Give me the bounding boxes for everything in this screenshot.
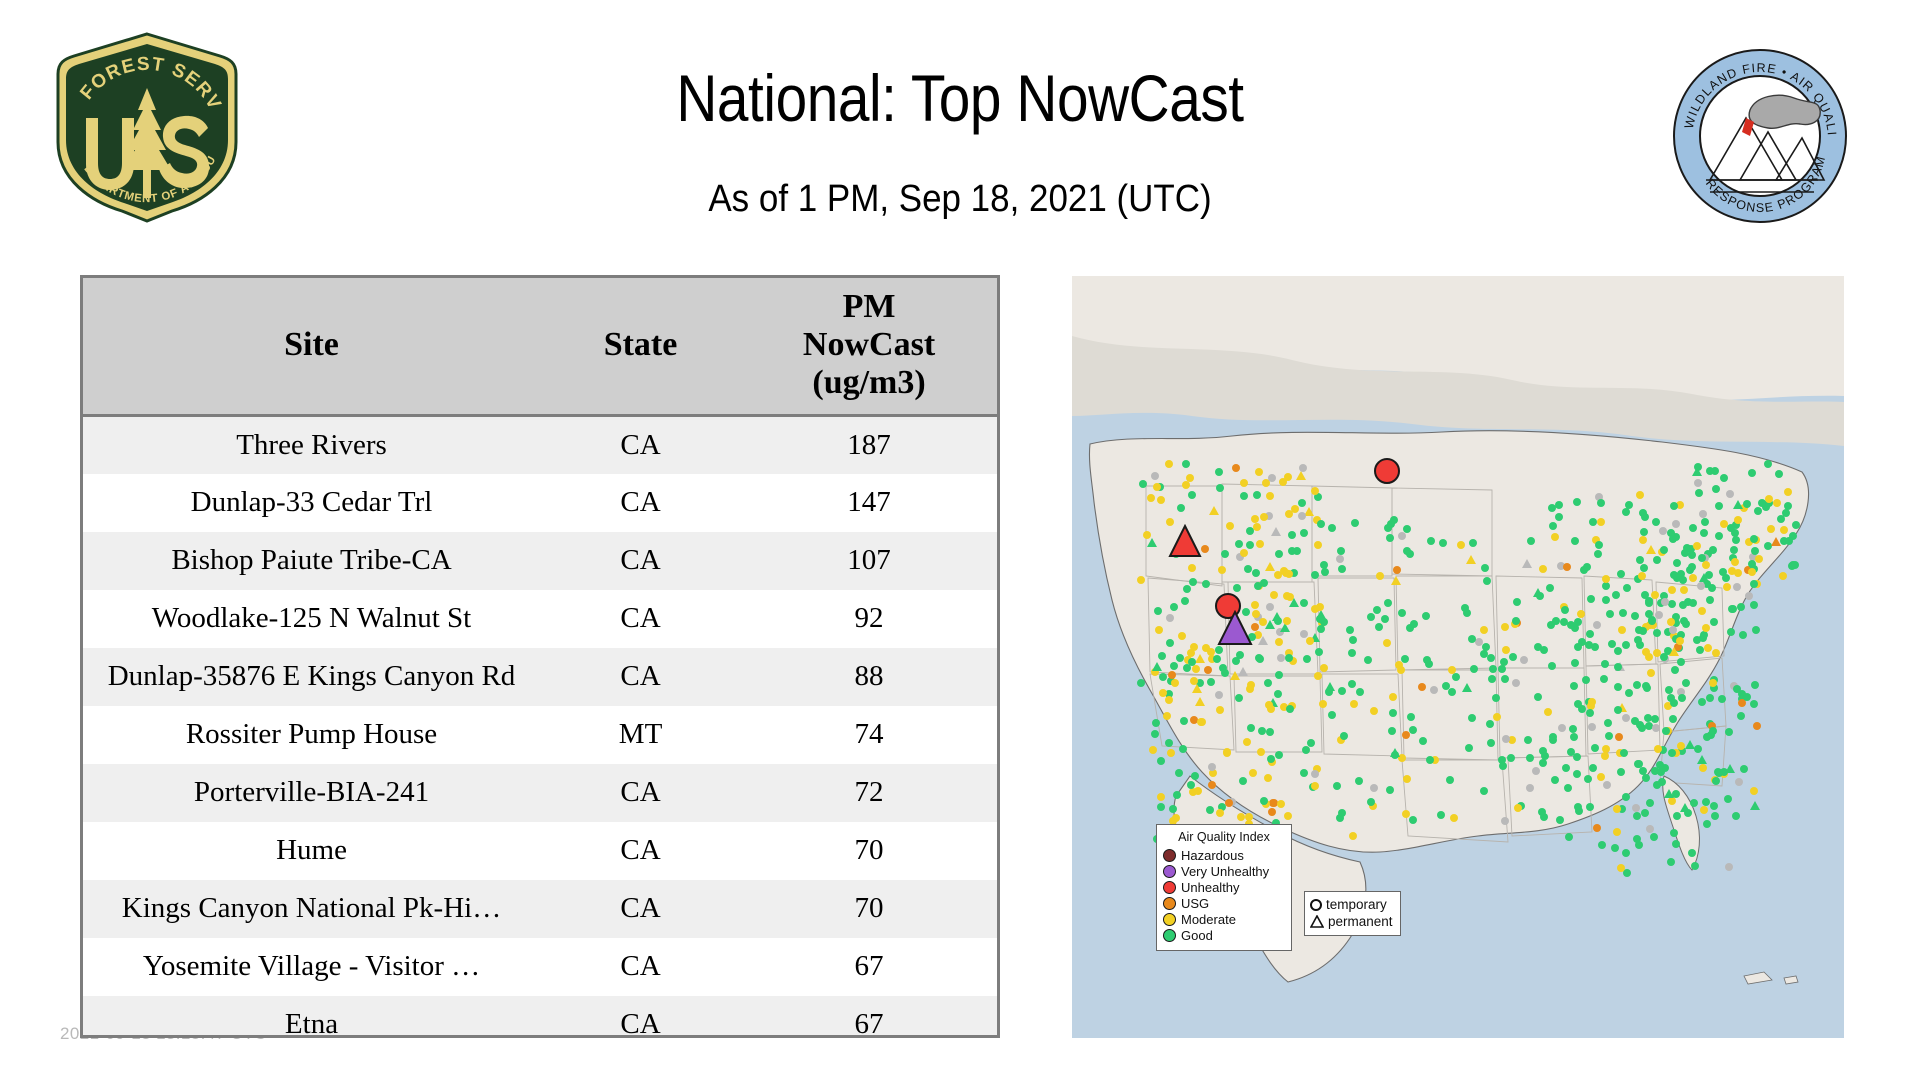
monitor-marker-temporary[interactable]	[1253, 523, 1261, 531]
monitor-marker-temporary[interactable]	[1646, 799, 1654, 807]
monitor-marker-temporary[interactable]	[1633, 812, 1641, 820]
monitor-marker-temporary[interactable]	[1355, 777, 1363, 785]
monitor-marker-temporary[interactable]	[1632, 804, 1640, 812]
monitor-marker-temporary[interactable]	[1595, 541, 1603, 549]
monitor-marker-temporary[interactable]	[1546, 584, 1554, 592]
monitor-marker-temporary[interactable]	[1669, 626, 1677, 634]
monitor-marker-temporary[interactable]	[1340, 732, 1348, 740]
monitor-marker-temporary[interactable]	[1480, 626, 1488, 634]
monitor-marker-temporary[interactable]	[1498, 756, 1506, 764]
monitor-marker-temporary[interactable]	[1614, 706, 1622, 714]
monitor-marker-temporary[interactable]	[1574, 643, 1582, 651]
monitor-marker-temporary[interactable]	[1448, 688, 1456, 696]
monitor-marker-temporary[interactable]	[1256, 540, 1264, 548]
monitor-marker-temporary[interactable]	[1668, 600, 1676, 608]
monitor-marker-temporary[interactable]	[1619, 609, 1627, 617]
monitor-marker-temporary[interactable]	[1698, 607, 1706, 615]
monitor-marker-temporary[interactable]	[1500, 658, 1508, 666]
monitor-marker-temporary[interactable]	[1731, 558, 1739, 566]
monitor-marker-temporary[interactable]	[1602, 596, 1610, 604]
national-map-panel[interactable]: Air Quality Index HazardousVery Unhealth…	[1072, 276, 1844, 1038]
monitor-marker-temporary[interactable]	[1232, 657, 1240, 665]
monitor-marker-temporary[interactable]	[1300, 769, 1308, 777]
monitor-marker-temporary[interactable]	[1671, 666, 1679, 674]
monitor-marker-temporary[interactable]	[1252, 610, 1260, 618]
monitor-marker-temporary[interactable]	[1384, 599, 1392, 607]
monitor-marker-temporary[interactable]	[1653, 629, 1661, 637]
monitor-marker-temporary[interactable]	[1314, 672, 1322, 680]
monitor-marker-temporary[interactable]	[1573, 498, 1581, 506]
monitor-marker-temporary[interactable]	[1370, 707, 1378, 715]
monitor-marker-temporary[interactable]	[1255, 468, 1263, 476]
monitor-marker-temporary[interactable]	[1711, 812, 1719, 820]
monitor-marker-temporary[interactable]	[1526, 754, 1534, 762]
monitor-marker-permanent[interactable]	[1195, 654, 1205, 663]
monitor-marker-temporary[interactable]	[1745, 592, 1753, 600]
monitor-marker-temporary[interactable]	[1469, 539, 1477, 547]
monitor-marker-temporary[interactable]	[1539, 759, 1547, 767]
monitor-marker-temporary[interactable]	[1673, 812, 1681, 820]
monitor-marker-temporary[interactable]	[1551, 533, 1559, 541]
monitor-marker-temporary[interactable]	[1274, 690, 1282, 698]
monitor-marker-temporary[interactable]	[1641, 809, 1649, 817]
monitor-marker-temporary[interactable]	[1636, 491, 1644, 499]
monitor-marker-temporary[interactable]	[1617, 570, 1625, 578]
monitor-marker-temporary[interactable]	[1275, 671, 1283, 679]
monitor-marker-temporary[interactable]	[1583, 563, 1591, 571]
monitor-marker-temporary[interactable]	[1387, 520, 1395, 528]
monitor-marker-temporary[interactable]	[1677, 658, 1685, 666]
monitor-marker-temporary[interactable]	[1593, 824, 1601, 832]
monitor-marker-temporary[interactable]	[1640, 564, 1648, 572]
monitor-marker-permanent[interactable]	[1289, 598, 1299, 607]
monitor-marker-temporary[interactable]	[1538, 808, 1546, 816]
monitor-marker-permanent[interactable]	[1669, 647, 1679, 656]
monitor-marker-temporary[interactable]	[1298, 512, 1306, 520]
monitor-marker-temporary[interactable]	[1623, 584, 1631, 592]
monitor-marker-temporary[interactable]	[1733, 685, 1741, 693]
monitor-marker-temporary[interactable]	[1754, 507, 1762, 515]
monitor-marker-temporary[interactable]	[1397, 666, 1405, 674]
monitor-marker-temporary[interactable]	[1501, 817, 1509, 825]
monitor-marker-temporary[interactable]	[1316, 615, 1324, 623]
monitor-marker-temporary[interactable]	[1780, 526, 1788, 534]
monitor-marker-temporary[interactable]	[1270, 591, 1278, 599]
monitor-marker-temporary[interactable]	[1719, 568, 1727, 576]
monitor-marker-temporary[interactable]	[1642, 774, 1650, 782]
monitor-marker-temporary[interactable]	[1601, 752, 1609, 760]
monitor-marker-temporary[interactable]	[1613, 805, 1621, 813]
monitor-marker-temporary[interactable]	[1665, 686, 1673, 694]
monitor-marker-temporary[interactable]	[1188, 564, 1196, 572]
monitor-marker-temporary[interactable]	[1556, 816, 1564, 824]
monitor-marker-temporary[interactable]	[1643, 684, 1651, 692]
monitor-marker-temporary[interactable]	[1252, 569, 1260, 577]
monitor-marker-temporary[interactable]	[1676, 637, 1684, 645]
monitor-marker-temporary[interactable]	[1655, 611, 1663, 619]
monitor-marker-temporary[interactable]	[1662, 727, 1670, 735]
monitor-marker-temporary[interactable]	[1534, 693, 1542, 701]
monitor-marker-temporary[interactable]	[1338, 687, 1346, 695]
monitor-marker-temporary[interactable]	[1480, 787, 1488, 795]
monitor-marker-permanent[interactable]	[1697, 755, 1707, 764]
monitor-marker-temporary[interactable]	[1235, 540, 1243, 548]
monitor-marker-temporary[interactable]	[1277, 654, 1285, 662]
monitor-marker-temporary[interactable]	[1260, 513, 1268, 521]
monitor-marker-temporary[interactable]	[1690, 799, 1698, 807]
monitor-marker-temporary[interactable]	[1383, 639, 1391, 647]
monitor-marker-temporary[interactable]	[1169, 805, 1177, 813]
monitor-marker-temporary[interactable]	[1673, 559, 1681, 567]
monitor-marker-temporary[interactable]	[1137, 679, 1145, 687]
monitor-marker-temporary[interactable]	[1483, 577, 1491, 585]
monitor-marker-temporary[interactable]	[1622, 793, 1630, 801]
monitor-marker-temporary[interactable]	[1597, 499, 1605, 507]
monitor-marker-temporary[interactable]	[1750, 787, 1758, 795]
monitor-marker-temporary[interactable]	[1291, 505, 1299, 513]
monitor-marker-temporary[interactable]	[1178, 632, 1186, 640]
monitor-marker-temporary[interactable]	[1233, 584, 1241, 592]
monitor-marker-permanent[interactable]	[1230, 671, 1240, 680]
monitor-marker-temporary[interactable]	[1555, 513, 1563, 521]
monitor-marker-permanent[interactable]	[1325, 682, 1335, 691]
monitor-marker-temporary[interactable]	[1268, 808, 1276, 816]
monitor-marker-temporary[interactable]	[1549, 522, 1557, 530]
monitor-marker-temporary[interactable]	[1653, 781, 1661, 789]
monitor-marker-temporary[interactable]	[1617, 768, 1625, 776]
monitor-marker-permanent[interactable]	[1680, 803, 1690, 812]
monitor-marker-temporary[interactable]	[1650, 833, 1658, 841]
monitor-marker-temporary[interactable]	[1247, 681, 1255, 689]
monitor-marker-temporary[interactable]	[1247, 724, 1255, 732]
monitor-marker-temporary[interactable]	[1338, 565, 1346, 573]
monitor-marker-temporary[interactable]	[1680, 586, 1688, 594]
monitor-marker-temporary[interactable]	[1311, 770, 1319, 778]
monitor-marker-temporary[interactable]	[1636, 641, 1644, 649]
monitor-marker-temporary[interactable]	[1700, 806, 1708, 814]
monitor-marker-temporary[interactable]	[1562, 764, 1570, 772]
monitor-marker-temporary[interactable]	[1672, 520, 1680, 528]
monitor-marker-temporary[interactable]	[1488, 675, 1496, 683]
monitor-marker-temporary[interactable]	[1286, 705, 1294, 713]
monitor-marker-temporary[interactable]	[1288, 531, 1296, 539]
monitor-marker-temporary[interactable]	[1647, 669, 1655, 677]
monitor-marker-temporary[interactable]	[1544, 708, 1552, 716]
monitor-marker-temporary[interactable]	[1558, 724, 1566, 732]
monitor-marker-temporary[interactable]	[1753, 722, 1761, 730]
monitor-marker-temporary[interactable]	[1600, 675, 1608, 683]
monitor-marker-temporary[interactable]	[1266, 603, 1274, 611]
monitor-marker-temporary[interactable]	[1168, 671, 1176, 679]
monitor-marker-temporary[interactable]	[1750, 535, 1758, 543]
monitor-marker-temporary[interactable]	[1645, 599, 1653, 607]
monitor-marker-temporary[interactable]	[1715, 502, 1723, 510]
monitor-marker-temporary[interactable]	[1159, 673, 1167, 681]
monitor-marker-temporary[interactable]	[1157, 803, 1165, 811]
monitor-marker-permanent[interactable]	[1692, 467, 1702, 476]
monitor-marker-temporary[interactable]	[1633, 681, 1641, 689]
monitor-marker-temporary[interactable]	[1448, 666, 1456, 674]
monitor-marker-temporary[interactable]	[1678, 694, 1686, 702]
monitor-marker-temporary[interactable]	[1726, 490, 1734, 498]
monitor-marker-temporary[interactable]	[1223, 749, 1231, 757]
monitor-marker-temporary[interactable]	[1612, 591, 1620, 599]
monitor-marker-temporary[interactable]	[1482, 643, 1490, 651]
monitor-marker-temporary[interactable]	[1266, 728, 1274, 736]
monitor-marker-temporary[interactable]	[1702, 798, 1710, 806]
monitor-marker-temporary[interactable]	[1604, 719, 1612, 727]
monitor-marker-temporary[interactable]	[1625, 689, 1633, 697]
monitor-marker-temporary[interactable]	[1306, 637, 1314, 645]
monitor-marker-temporary[interactable]	[1216, 706, 1224, 714]
monitor-marker-temporary[interactable]	[1157, 793, 1165, 801]
monitor-marker-temporary[interactable]	[1182, 460, 1190, 468]
monitor-marker-temporary[interactable]	[1208, 781, 1216, 789]
monitor-marker-temporary[interactable]	[1206, 806, 1214, 814]
monitor-marker-temporary[interactable]	[1703, 820, 1711, 828]
monitor-marker-temporary[interactable]	[1549, 733, 1557, 741]
monitor-marker-temporary[interactable]	[1618, 626, 1626, 634]
monitor-marker-temporary[interactable]	[1302, 746, 1310, 754]
monitor-marker-temporary[interactable]	[1712, 485, 1720, 493]
monitor-marker-temporary[interactable]	[1177, 504, 1185, 512]
monitor-marker-temporary[interactable]	[1346, 626, 1354, 634]
monitor-marker-temporary[interactable]	[1527, 537, 1535, 545]
monitor-marker-temporary[interactable]	[1300, 529, 1308, 537]
monitor-marker-temporary[interactable]	[1767, 525, 1775, 533]
monitor-marker-temporary[interactable]	[1251, 515, 1259, 523]
monitor-marker-temporary[interactable]	[1725, 863, 1733, 871]
monitor-marker-permanent[interactable]	[1265, 562, 1275, 571]
monitor-marker-temporary[interactable]	[1337, 547, 1345, 555]
monitor-marker-temporary[interactable]	[1594, 550, 1602, 558]
monitor-marker-temporary[interactable]	[1401, 655, 1409, 663]
monitor-marker-temporary[interactable]	[1784, 488, 1792, 496]
monitor-marker-temporary[interactable]	[1706, 694, 1714, 702]
monitor-marker-temporary[interactable]	[1597, 518, 1605, 526]
monitor-marker-temporary[interactable]	[1163, 712, 1171, 720]
monitor-marker-temporary[interactable]	[1266, 492, 1274, 500]
monitor-marker-temporary[interactable]	[1700, 529, 1708, 537]
monitor-marker-temporary[interactable]	[1709, 546, 1717, 554]
monitor-marker-temporary[interactable]	[1652, 518, 1660, 526]
highlight-marker-montana-unhealthy[interactable]	[1374, 458, 1400, 484]
monitor-marker-temporary[interactable]	[1735, 778, 1743, 786]
monitor-marker-permanent[interactable]	[1462, 683, 1472, 692]
monitor-marker-temporary[interactable]	[1733, 583, 1741, 591]
monitor-marker-temporary[interactable]	[1381, 615, 1389, 623]
monitor-marker-temporary[interactable]	[1493, 713, 1501, 721]
monitor-marker-temporary[interactable]	[1622, 714, 1630, 722]
monitor-marker-temporary[interactable]	[1317, 625, 1325, 633]
monitor-marker-temporary[interactable]	[1152, 719, 1160, 727]
monitor-marker-temporary[interactable]	[1350, 700, 1358, 708]
monitor-marker-temporary[interactable]	[1740, 765, 1748, 773]
monitor-marker-temporary[interactable]	[1253, 491, 1261, 499]
monitor-marker-temporary[interactable]	[1389, 709, 1397, 717]
monitor-marker-permanent[interactable]	[1733, 500, 1743, 509]
monitor-marker-permanent[interactable]	[1725, 764, 1735, 773]
monitor-marker-temporary[interactable]	[1175, 769, 1183, 777]
monitor-marker-temporary[interactable]	[1591, 744, 1599, 752]
monitor-marker-temporary[interactable]	[1170, 603, 1178, 611]
monitor-marker-temporary[interactable]	[1419, 737, 1427, 745]
monitor-marker-temporary[interactable]	[1614, 663, 1622, 671]
monitor-marker-temporary[interactable]	[1364, 656, 1372, 664]
monitor-marker-temporary[interactable]	[1775, 470, 1783, 478]
monitor-marker-temporary[interactable]	[1502, 646, 1510, 654]
monitor-marker-permanent[interactable]	[1466, 555, 1476, 564]
monitor-marker-temporary[interactable]	[1240, 492, 1248, 500]
monitor-marker-temporary[interactable]	[1750, 601, 1758, 609]
monitor-marker-temporary[interactable]	[1598, 841, 1606, 849]
monitor-marker-temporary[interactable]	[1457, 541, 1465, 549]
monitor-marker-temporary[interactable]	[1251, 601, 1259, 609]
monitor-marker-temporary[interactable]	[1348, 680, 1356, 688]
monitor-marker-temporary[interactable]	[1192, 665, 1200, 673]
monitor-marker-temporary[interactable]	[1336, 555, 1344, 563]
monitor-marker-temporary[interactable]	[1403, 775, 1411, 783]
monitor-marker-temporary[interactable]	[1642, 648, 1650, 656]
monitor-marker-temporary[interactable]	[1376, 572, 1384, 580]
monitor-marker-temporary[interactable]	[1165, 460, 1173, 468]
monitor-marker-temporary[interactable]	[1720, 474, 1728, 482]
monitor-marker-temporary[interactable]	[1573, 770, 1581, 778]
monitor-marker-temporary[interactable]	[1669, 715, 1677, 723]
monitor-marker-temporary[interactable]	[1409, 816, 1417, 824]
monitor-marker-temporary[interactable]	[1314, 541, 1322, 549]
monitor-marker-temporary[interactable]	[1613, 828, 1621, 836]
monitor-marker-temporary[interactable]	[1779, 572, 1787, 580]
monitor-marker-permanent[interactable]	[1265, 620, 1275, 629]
monitor-marker-permanent[interactable]	[1296, 471, 1306, 480]
monitor-marker-temporary[interactable]	[1509, 653, 1517, 661]
monitor-marker-temporary[interactable]	[1710, 618, 1718, 626]
monitor-marker-temporary[interactable]	[1751, 681, 1759, 689]
monitor-marker-temporary[interactable]	[1275, 550, 1283, 558]
monitor-marker-permanent[interactable]	[1152, 662, 1162, 671]
monitor-marker-temporary[interactable]	[1540, 646, 1548, 654]
monitor-marker-temporary[interactable]	[1406, 550, 1414, 558]
monitor-marker-temporary[interactable]	[1245, 813, 1253, 821]
monitor-marker-temporary[interactable]	[1465, 744, 1473, 752]
monitor-marker-temporary[interactable]	[1601, 660, 1609, 668]
monitor-marker-temporary[interactable]	[1507, 754, 1515, 762]
monitor-marker-temporary[interactable]	[1240, 479, 1248, 487]
monitor-marker-temporary[interactable]	[1670, 502, 1678, 510]
monitor-marker-permanent[interactable]	[1195, 697, 1205, 706]
monitor-marker-temporary[interactable]	[1691, 862, 1699, 870]
monitor-marker-temporary[interactable]	[1165, 696, 1173, 704]
monitor-marker-temporary[interactable]	[1614, 683, 1622, 691]
monitor-marker-temporary[interactable]	[1249, 769, 1257, 777]
monitor-marker-temporary[interactable]	[1570, 682, 1578, 690]
monitor-marker-temporary[interactable]	[1215, 691, 1223, 699]
monitor-marker-temporary[interactable]	[1699, 510, 1707, 518]
monitor-marker-temporary[interactable]	[1705, 571, 1713, 579]
monitor-marker-temporary[interactable]	[1221, 550, 1229, 558]
monitor-marker-temporary[interactable]	[1501, 623, 1509, 631]
monitor-marker-temporary[interactable]	[1589, 764, 1597, 772]
monitor-marker-temporary[interactable]	[1514, 804, 1522, 812]
monitor-marker-temporary[interactable]	[1317, 520, 1325, 528]
monitor-marker-temporary[interactable]	[1171, 679, 1179, 687]
monitor-marker-temporary[interactable]	[1450, 814, 1458, 822]
monitor-marker-temporary[interactable]	[1702, 561, 1710, 569]
monitor-marker-temporary[interactable]	[1321, 568, 1329, 576]
monitor-marker-temporary[interactable]	[1264, 774, 1272, 782]
monitor-marker-temporary[interactable]	[1143, 531, 1151, 539]
monitor-marker-temporary[interactable]	[1734, 569, 1742, 577]
monitor-marker-temporary[interactable]	[1555, 501, 1563, 509]
monitor-marker-temporary[interactable]	[1176, 654, 1184, 662]
monitor-marker-temporary[interactable]	[1694, 479, 1702, 487]
monitor-marker-temporary[interactable]	[1782, 509, 1790, 517]
monitor-marker-temporary[interactable]	[1668, 797, 1676, 805]
monitor-marker-temporary[interactable]	[1582, 676, 1590, 684]
monitor-marker-temporary[interactable]	[1147, 494, 1155, 502]
monitor-marker-temporary[interactable]	[1181, 597, 1189, 605]
monitor-marker-temporary[interactable]	[1246, 541, 1254, 549]
monitor-marker-temporary[interactable]	[1232, 464, 1240, 472]
monitor-marker-temporary[interactable]	[1486, 720, 1494, 728]
monitor-marker-temporary[interactable]	[1418, 683, 1426, 691]
monitor-marker-temporary[interactable]	[1487, 739, 1495, 747]
monitor-marker-temporary[interactable]	[1386, 534, 1394, 542]
monitor-marker-temporary[interactable]	[1179, 745, 1187, 753]
monitor-marker-permanent[interactable]	[1771, 537, 1781, 546]
monitor-marker-temporary[interactable]	[1407, 713, 1415, 721]
monitor-marker-temporary[interactable]	[1268, 474, 1276, 482]
monitor-marker-temporary[interactable]	[1204, 666, 1212, 674]
monitor-marker-temporary[interactable]	[1667, 618, 1675, 626]
monitor-marker-temporary[interactable]	[1367, 798, 1375, 806]
monitor-marker-temporary[interactable]	[1356, 688, 1364, 696]
monitor-marker-temporary[interactable]	[1569, 725, 1577, 733]
monitor-marker-temporary[interactable]	[1536, 592, 1544, 600]
monitor-marker-temporary[interactable]	[1670, 829, 1678, 837]
monitor-marker-temporary[interactable]	[1257, 748, 1265, 756]
monitor-marker-temporary[interactable]	[1191, 772, 1199, 780]
monitor-marker-temporary[interactable]	[1679, 576, 1687, 584]
monitor-marker-temporary[interactable]	[1166, 614, 1174, 622]
monitor-marker-temporary[interactable]	[1351, 519, 1359, 527]
monitor-marker-temporary[interactable]	[1166, 639, 1174, 647]
monitor-marker-temporary[interactable]	[1183, 664, 1191, 672]
monitor-marker-temporary[interactable]	[1213, 655, 1221, 663]
monitor-marker-temporary[interactable]	[1180, 717, 1188, 725]
monitor-marker-temporary[interactable]	[1688, 849, 1696, 857]
monitor-marker-temporary[interactable]	[1348, 649, 1356, 657]
monitor-marker-temporary[interactable]	[1149, 746, 1157, 754]
monitor-marker-temporary[interactable]	[1734, 516, 1742, 524]
monitor-marker-temporary[interactable]	[1552, 617, 1560, 625]
monitor-marker-temporary[interactable]	[1695, 489, 1703, 497]
monitor-marker-temporary[interactable]	[1240, 549, 1248, 557]
monitor-marker-temporary[interactable]	[1712, 649, 1720, 657]
monitor-marker-temporary[interactable]	[1512, 679, 1520, 687]
monitor-marker-temporary[interactable]	[1157, 496, 1165, 504]
monitor-marker-temporary[interactable]	[1563, 563, 1571, 571]
monitor-marker-temporary[interactable]	[1739, 631, 1747, 639]
monitor-marker-temporary[interactable]	[1275, 751, 1283, 759]
monitor-marker-temporary[interactable]	[1689, 524, 1697, 532]
monitor-marker-temporary[interactable]	[1698, 698, 1706, 706]
monitor-marker-temporary[interactable]	[1283, 617, 1291, 625]
monitor-marker-temporary[interactable]	[1173, 791, 1181, 799]
monitor-marker-temporary[interactable]	[1567, 621, 1575, 629]
monitor-marker-temporary[interactable]	[1732, 812, 1740, 820]
